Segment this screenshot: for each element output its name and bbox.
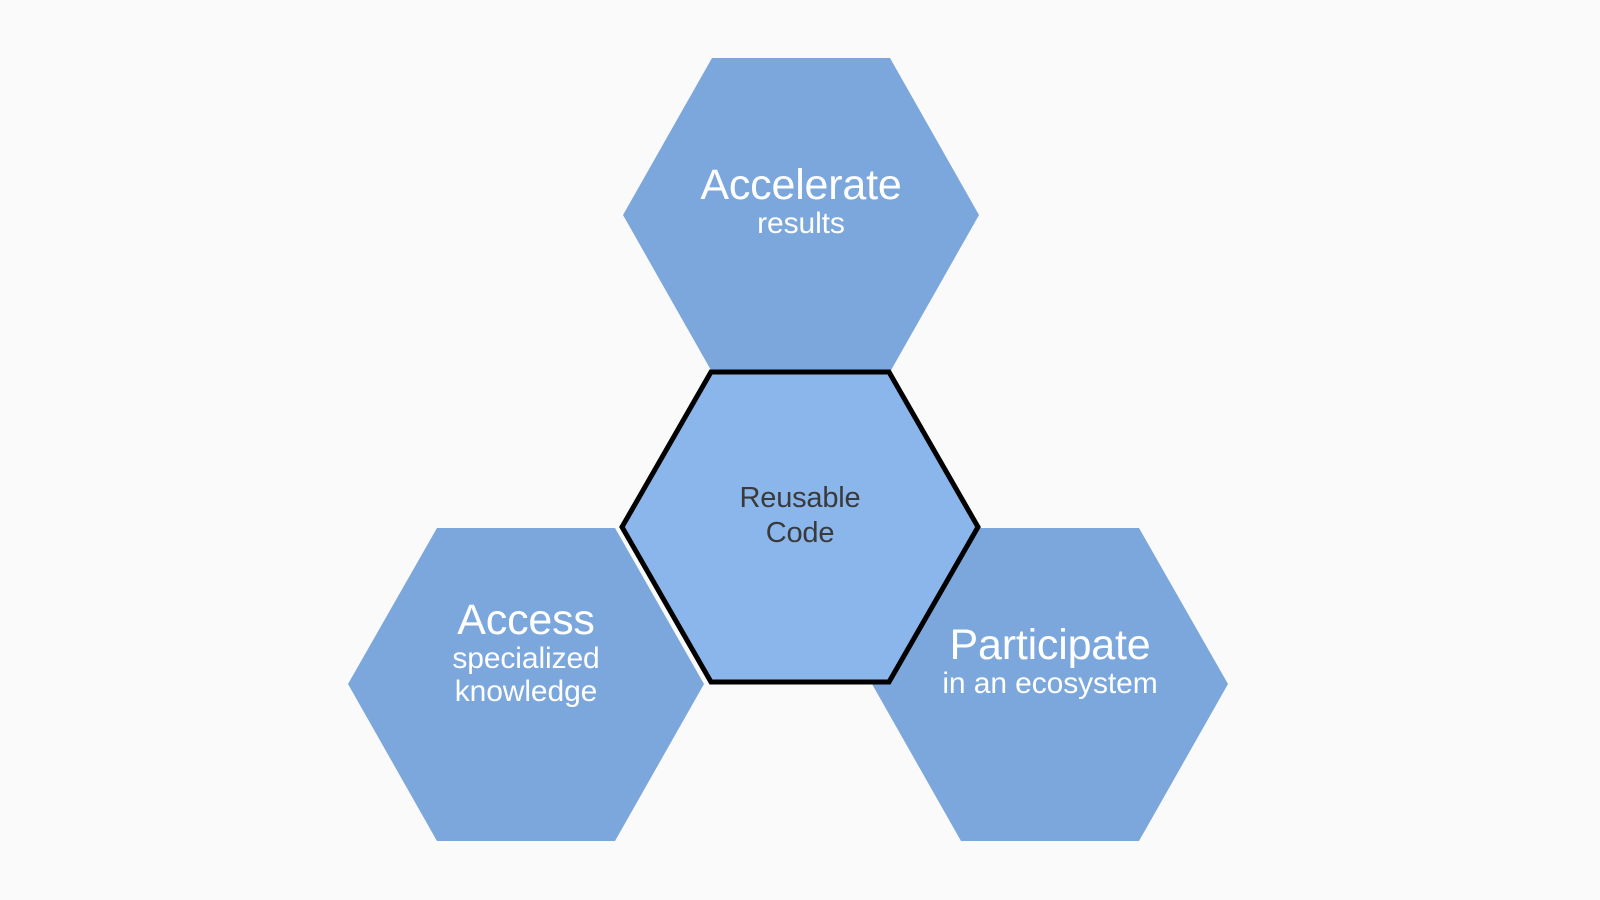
hexagon-shapes-canvas (0, 0, 1600, 900)
hexagon-accelerate[interactable] (623, 58, 979, 372)
hexagon-diagram: Accelerate results Access specialized kn… (0, 0, 1600, 900)
